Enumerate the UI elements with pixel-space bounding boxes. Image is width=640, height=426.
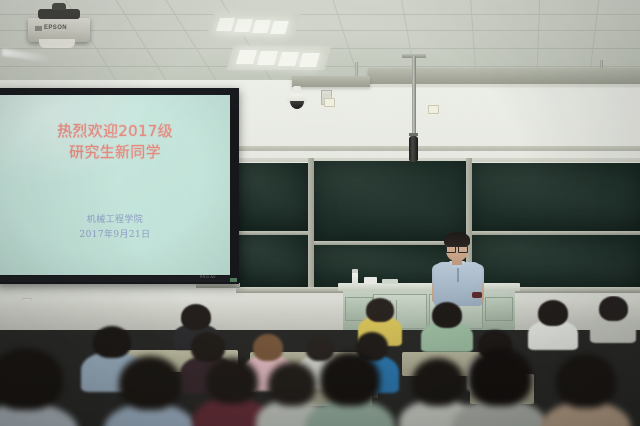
audience-head	[432, 302, 462, 328]
wall-lamp-right	[428, 105, 439, 114]
presenter-shirt-placket	[457, 268, 459, 282]
projector: EPSON	[28, 18, 90, 42]
projector-vent	[35, 26, 42, 31]
audience-head	[181, 304, 211, 330]
ceiling-soffit-center	[292, 76, 370, 87]
slide-subtitle-line-1: 机械工程学院	[0, 213, 230, 228]
audience-head	[538, 300, 568, 326]
audience-head	[253, 334, 283, 361]
glasses-icon	[446, 246, 468, 251]
ceiling-soffit-right	[368, 68, 640, 84]
slide-title-line-1: 热烈欢迎2017级	[0, 121, 230, 142]
presenter	[432, 228, 484, 303]
blackboard-panel-right-bottom	[472, 235, 640, 289]
audience-head	[556, 354, 616, 408]
audience-head	[191, 332, 225, 362]
audience-area	[0, 296, 640, 426]
screen-bottom-bar: PRO AV	[0, 276, 230, 282]
audience-head	[599, 296, 628, 321]
slide-title-line-2: 研究生新同学	[0, 142, 230, 163]
audience-head	[412, 358, 464, 406]
slide-subtitle: 机械工程学院 2017年9月21日	[0, 213, 230, 243]
desk-tray	[382, 279, 398, 284]
audience-head	[119, 356, 181, 410]
audience-head	[0, 348, 63, 410]
camera-dome	[290, 101, 304, 109]
audience-head	[306, 336, 334, 361]
audience-head	[268, 362, 316, 406]
water-bottle-cap	[352, 269, 358, 273]
audience-head	[93, 326, 131, 358]
desk-paper	[364, 277, 377, 284]
dome-security-camera	[286, 92, 308, 109]
audience-head	[206, 358, 258, 404]
projector-brand-label: EPSON	[44, 25, 67, 31]
desk-top-surface	[338, 283, 520, 291]
blackboard-panel-right-top	[472, 163, 640, 231]
projection-screen-frame: 热烈欢迎2017级 研究生新同学 机械工程学院 2017年9月21日 PRO A…	[0, 88, 239, 284]
hanging-microphone	[409, 136, 418, 162]
blackboard-panel-left-top	[236, 163, 308, 231]
microphone-rod	[412, 56, 416, 142]
audience-head	[468, 348, 532, 406]
projection-screen[interactable]: 热烈欢迎2017级 研究生新同学 机械工程学院 2017年9月21日	[0, 95, 230, 275]
projector-lens	[39, 39, 75, 48]
blackboard-panel-left-bottom	[236, 235, 308, 287]
slide-subtitle-date: 2017年9月21日	[0, 228, 230, 243]
audience-head	[320, 352, 380, 406]
water-bottle	[352, 272, 358, 285]
lecture-hall-photo: EPSON	[0, 0, 640, 426]
screen-logo-label: PRO AV	[200, 274, 216, 279]
audience-head	[366, 298, 394, 322]
wall-trim-upper	[236, 146, 640, 151]
projector-mount	[38, 9, 80, 19]
slide-title: 热烈欢迎2017级 研究生新同学	[0, 121, 230, 163]
wall-lamp-left	[324, 98, 335, 107]
presenter-hair	[444, 232, 470, 247]
soffit-lip-right	[368, 84, 640, 87]
screen-indicator-led	[230, 278, 237, 282]
